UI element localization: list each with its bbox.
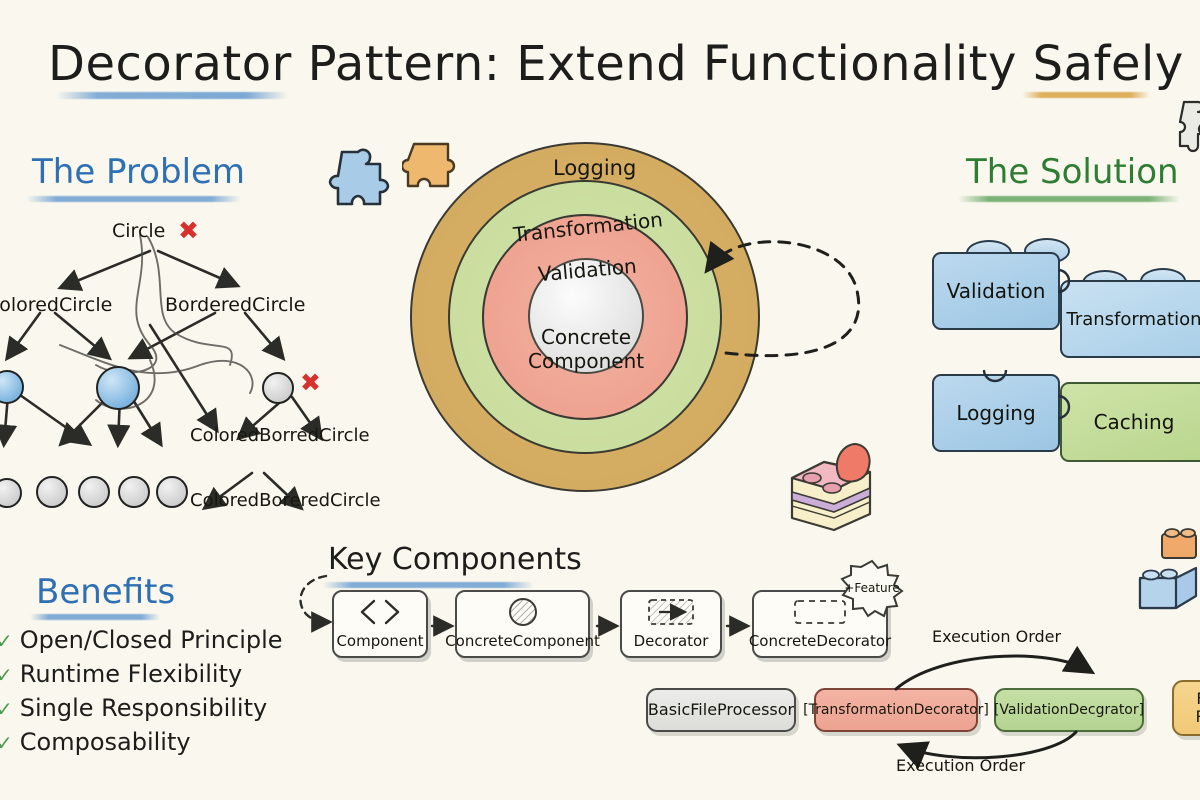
tree-node-borderedcircle: BorderedCircle: [165, 294, 305, 316]
pipeline-box-clipped: F R: [1172, 680, 1200, 736]
pipeline-box-label-line1: F: [1196, 690, 1200, 708]
puzzle-piece-orange-icon: [402, 136, 462, 198]
core-label-line1: Concrete: [528, 326, 644, 350]
tree-node-circle: Circle: [112, 220, 165, 242]
tree-leaf-node: [36, 476, 68, 508]
layer-cake-icon: [778, 438, 882, 536]
angle-brackets-icon: [334, 592, 426, 632]
tree-circle-node: [96, 366, 140, 410]
check-icon: ✓: [0, 697, 13, 721]
benefit-item: Composability: [20, 728, 191, 756]
tree-circle-node: [262, 372, 294, 404]
problem-tree-edges: [0, 215, 400, 515]
puzzle-piece-corner-icon: [1176, 96, 1200, 168]
key-box-component: Component: [332, 590, 428, 658]
benefits-list: ✓ Open/Closed Principle ✓ Runtime Flexib…: [0, 626, 283, 756]
infographic-canvas: Decorator Pattern: Extend Functionality …: [0, 0, 1200, 800]
solution-heading: The Solution: [966, 152, 1179, 192]
execution-order-arrow-top: [890, 645, 1170, 693]
benefits-heading: Benefits: [36, 572, 175, 612]
core-label-line2: Component: [528, 350, 644, 374]
page-title: Decorator Pattern: Extend Functionality …: [48, 36, 1178, 92]
key-box-label: ConcreteDecorator: [749, 632, 891, 656]
key-components-heading: Key Components: [328, 542, 582, 577]
tree-leaf-node: [118, 476, 150, 508]
wrap-loop-dashed-arrow: [630, 225, 890, 385]
benefit-item: Open/Closed Principle: [20, 626, 283, 654]
problem-heading: The Problem: [32, 152, 245, 192]
execution-order-label-bottom: Execution Order: [896, 756, 1025, 775]
pipeline-box-basicfileprocessor: BasicFileProcessor: [646, 688, 796, 732]
solution-heading-underline: [958, 196, 1180, 202]
pipeline-box-label-line2: R: [1195, 708, 1200, 726]
dead-end-x-mark: ✖: [300, 368, 321, 397]
execution-order-label-top: Execution Order: [932, 627, 1061, 646]
core-label: Concrete Component: [528, 326, 644, 373]
title-underline-gold: [1022, 92, 1150, 98]
feature-badge-label: +Feature: [840, 578, 904, 598]
benefit-item: Runtime Flexibility: [20, 660, 242, 688]
check-icon: ✓: [0, 663, 13, 687]
key-components-connectors: [420, 612, 770, 640]
key-box-label: Component: [336, 632, 423, 656]
pipeline-box-transformationdecorator: [TransformationDecorator]: [814, 688, 978, 732]
benefits-heading-underline: [30, 614, 160, 620]
circle-x-mark: ✖: [178, 216, 199, 245]
pipeline-box-label: BasicFileProcessor: [648, 701, 794, 719]
tree-leaf-node: [156, 476, 188, 508]
lego-brick-blue-icon: [1132, 552, 1200, 618]
check-icon: ✓: [0, 629, 13, 653]
title-underline-blue: [56, 92, 288, 99]
brick-interlock-knobs: [928, 248, 1200, 468]
combination-label-2: ColoredBoreredCircle: [190, 490, 381, 511]
pipeline-box-label: [TransformationDecorator]: [803, 702, 989, 718]
pipeline-box-label: [ValidationDecgrator]: [994, 702, 1144, 718]
ring-label-logging: Logging: [553, 156, 636, 180]
combination-label-1: ColoredBorredCircle: [190, 425, 370, 446]
tree-node-coloredcircle: ColoredCircle: [0, 294, 112, 316]
problem-heading-underline: [26, 196, 241, 202]
tree-leaf-node: [78, 476, 110, 508]
puzzle-piece-blue-icon: [322, 140, 394, 214]
check-icon: ✓: [0, 731, 13, 755]
pipeline-box-validationdecgrator: [ValidationDecgrator]: [994, 688, 1144, 732]
benefit-item: Single Responsibility: [20, 694, 267, 722]
